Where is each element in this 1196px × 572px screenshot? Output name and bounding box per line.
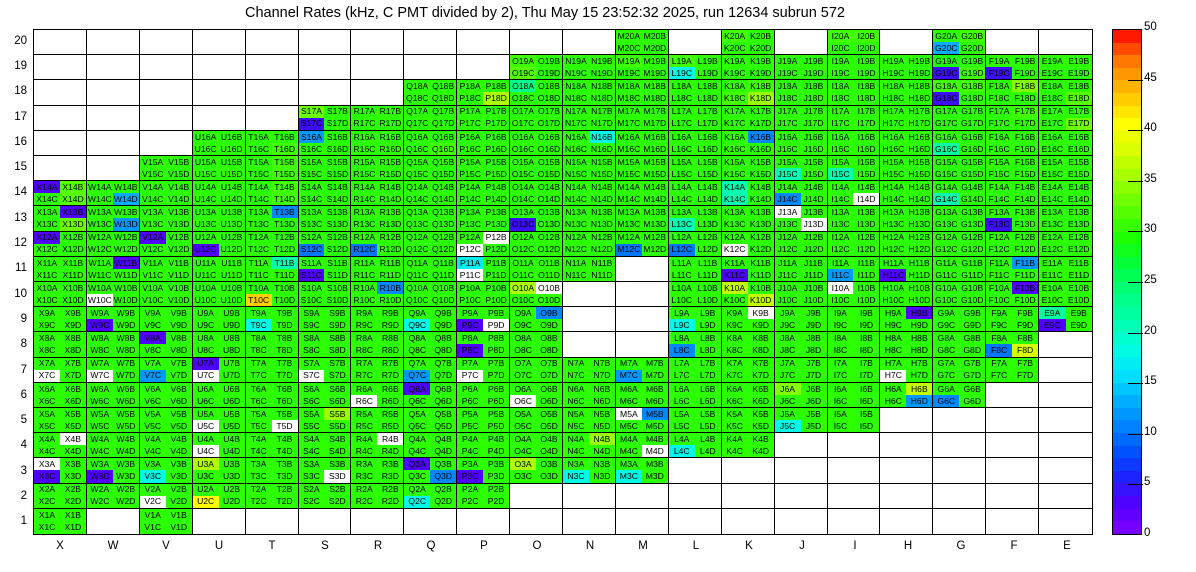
channel-V9C: V9C	[140, 319, 166, 331]
channel-S11C: S11C	[299, 269, 325, 281]
colorbar-tick-20: 20	[1144, 326, 1157, 338]
channel-F20C	[986, 42, 1012, 54]
channel-G14B: G14B	[959, 181, 985, 193]
channel-U3C: U3C	[193, 470, 219, 482]
channel-V4B: V4B	[166, 433, 192, 445]
channel-Q20B	[430, 30, 456, 42]
channel-R9B: R9B	[377, 307, 403, 319]
channel-J15C: J15C	[775, 168, 801, 180]
channel-O19C: O19C	[510, 67, 536, 79]
channel-X9B: X9B	[60, 307, 86, 319]
tower-Q3: Q3AQ3BQ3CQ3D	[404, 458, 457, 483]
channel-F4D	[1012, 445, 1038, 457]
channel-M2A	[616, 484, 642, 496]
channel-Q2B: Q2B	[430, 484, 456, 496]
channel-R15C: R15C	[351, 168, 377, 180]
channel-E5B	[1066, 408, 1092, 420]
channel-O14D: O14D	[536, 193, 562, 205]
channel-W11B: W11B	[113, 257, 139, 269]
tower-O13: O13AO13BO13CO13D	[510, 206, 563, 231]
channel-Q12B: Q12B	[430, 232, 456, 244]
channel-U6C: U6C	[193, 395, 219, 407]
channel-Q13D: Q13D	[430, 218, 456, 230]
channel-M1D	[642, 521, 668, 534]
channel-N7D: N7D	[589, 370, 615, 382]
channel-K8B: K8B	[748, 332, 774, 344]
channel-L13C: L13C	[669, 218, 695, 230]
channel-N9D	[589, 319, 615, 331]
channel-P12A: P12A	[457, 232, 483, 244]
channel-U1D	[219, 521, 245, 534]
tower-X16	[34, 131, 87, 156]
channel-X19D	[60, 67, 86, 79]
channel-O15B: O15B	[536, 156, 562, 168]
channel-J19D: J19D	[801, 67, 827, 79]
channel-L19A: L19A	[669, 55, 695, 67]
channel-T15C: T15C	[246, 168, 272, 180]
channel-V2A: V2A	[140, 484, 166, 496]
channel-R6B: R6B	[377, 383, 403, 395]
channel-P7B: P7B	[483, 358, 509, 370]
channel-S10A: S10A	[299, 282, 325, 294]
channel-R18C	[351, 92, 377, 104]
channel-M12B: M12B	[642, 232, 668, 244]
x-tick-N: N	[564, 540, 617, 552]
channel-T9C: T9C	[246, 319, 272, 331]
channel-T14C: T14C	[246, 193, 272, 205]
channel-H17D: H17D	[906, 118, 932, 130]
channel-J2A	[775, 484, 801, 496]
tower-E5	[1039, 408, 1092, 433]
channel-F18D: F18D	[1012, 92, 1038, 104]
channel-Q9D: Q9D	[430, 319, 456, 331]
channel-R15B: R15B	[377, 156, 403, 168]
channel-M7D: M7D	[642, 370, 668, 382]
channel-H6D: H6D	[906, 395, 932, 407]
channel-M14A: M14A	[616, 181, 642, 193]
channel-M13D: M13D	[642, 218, 668, 230]
channel-U20C	[193, 42, 219, 54]
channel-E10A: E10A	[1039, 282, 1065, 294]
tower-K8: K8AK8BK8CK8D	[722, 332, 775, 357]
channel-T5B: T5B	[272, 408, 298, 420]
channel-W2D: W2D	[113, 496, 139, 508]
channel-I19C: I19C	[828, 67, 854, 79]
channel-I18A: I18A	[828, 80, 854, 92]
channel-U2A: U2A	[193, 484, 219, 496]
channel-G4A	[933, 433, 959, 445]
tower-H4	[880, 433, 933, 458]
channel-I14B: I14B	[853, 181, 879, 193]
channel-U2C: U2C	[193, 496, 219, 508]
channel-X4C: X4C	[34, 445, 60, 457]
channel-H4D	[906, 445, 932, 457]
channel-O7B: O7B	[536, 358, 562, 370]
tower-O19: O19AO19BO19CO19D	[510, 55, 563, 80]
channel-N10D	[589, 294, 615, 306]
channel-M6A: M6A	[616, 383, 642, 395]
tower-Q13: Q13AQ13BQ13CQ13D	[404, 206, 457, 231]
tower-X5: X5AX5BX5CX5D	[34, 408, 87, 433]
tower-K10: K10AK10BK10CK10D	[722, 282, 775, 307]
channel-H16A: H16A	[880, 131, 906, 143]
tower-E1	[1039, 509, 1092, 534]
tower-S11: S11AS11BS11CS11D	[299, 257, 352, 282]
channel-L13B: L13B	[695, 206, 721, 218]
channel-N10A	[563, 282, 589, 294]
channel-E3D	[1066, 470, 1092, 482]
channel-J1A	[775, 509, 801, 522]
channel-E12D: E12D	[1066, 244, 1092, 256]
channel-X14D: X14D	[60, 193, 86, 205]
channel-M14D: M14D	[642, 193, 668, 205]
x-tick-E: E	[1041, 540, 1094, 552]
channel-V16A	[140, 131, 166, 143]
channel-O13C: O13C	[510, 218, 536, 230]
channel-O5C: O5C	[510, 420, 536, 432]
channel-Q9B: Q9B	[430, 307, 456, 319]
tower-K17: K17AK17BK17CK17D	[722, 106, 775, 131]
channel-P9A: P9A	[457, 307, 483, 319]
tower-N8	[563, 332, 616, 357]
channel-N7C: N7C	[563, 370, 589, 382]
channel-S10D: S10D	[324, 294, 350, 306]
channel-U14B: U14B	[219, 181, 245, 193]
tower-N16: N16AN16BN16CN16D	[563, 131, 616, 156]
channel-E5D	[1066, 420, 1092, 432]
channel-H1A	[880, 509, 906, 522]
channel-R3D: R3D	[377, 470, 403, 482]
tower-H3	[880, 458, 933, 483]
tower-E13: E13AE13BE13CE13D	[1039, 206, 1092, 231]
channel-W6D: W6D	[113, 395, 139, 407]
channel-K18A: K18A	[722, 80, 748, 92]
channel-G20B: G20B	[959, 30, 985, 42]
channel-O5D: O5D	[536, 420, 562, 432]
tower-V2: V2AV2BV2CV2D	[140, 484, 193, 509]
tower-K14: K14AK14BK14CK14D	[722, 181, 775, 206]
channel-F6D	[1012, 395, 1038, 407]
channel-E14B: E14B	[1066, 181, 1092, 193]
channel-T20D	[272, 42, 298, 54]
channel-E1D	[1066, 521, 1092, 534]
channel-N5D: N5D	[589, 420, 615, 432]
tower-U4: U4AU4BU4CU4D	[193, 433, 246, 458]
channel-J17B: J17B	[801, 106, 827, 118]
channel-F16C: F16C	[986, 143, 1012, 155]
channel-T6B: T6B	[272, 383, 298, 395]
channel-V6A: V6A	[140, 383, 166, 395]
channel-J17D: J17D	[801, 118, 827, 130]
colorbar-tick-30: 30	[1144, 224, 1157, 236]
channel-S20B	[324, 30, 350, 42]
channel-O17C: O17C	[510, 118, 536, 130]
channel-G1C	[933, 521, 959, 534]
channel-N17A: N17A	[563, 106, 589, 118]
channel-F15D: F15D	[1012, 168, 1038, 180]
channel-O16D: O16D	[536, 143, 562, 155]
channel-G5C	[933, 420, 959, 432]
channel-H9C: H9C	[880, 319, 906, 331]
channel-Q7C: Q7C	[404, 370, 430, 382]
tower-L8: L8AL8BL8CL8D	[669, 332, 722, 357]
channel-I15B: I15B	[853, 156, 879, 168]
channel-X4B: X4B	[60, 433, 86, 445]
channel-S17D: S17D	[324, 118, 350, 130]
channel-T9B: T9B	[272, 307, 298, 319]
channel-T20B	[272, 30, 298, 42]
channel-L10A: L10A	[669, 282, 695, 294]
channel-S7A: S7A	[299, 358, 325, 370]
channel-K8D: K8D	[748, 344, 774, 356]
tower-V1: V1AV1BV1CV1D	[140, 509, 193, 534]
channel-W18D	[113, 92, 139, 104]
tower-G20: G20AG20BG20CG20D	[933, 30, 986, 55]
tower-H7: H7AH7BH7CH7D	[880, 358, 933, 383]
channel-V7C: V7C	[140, 370, 166, 382]
channel-R17C: R17C	[351, 118, 377, 130]
channel-N11A: N11A	[563, 257, 589, 269]
channel-K14B: K14B	[748, 181, 774, 193]
channel-Q6B: Q6B	[430, 383, 456, 395]
channel-G15A: G15A	[933, 156, 959, 168]
channel-O6A: O6A	[510, 383, 536, 395]
channel-R15D: R15D	[377, 168, 403, 180]
tower-K1	[722, 509, 775, 534]
channel-M8B	[642, 332, 668, 344]
tower-F5	[986, 408, 1039, 433]
tower-R14: R14AR14BR14CR14D	[351, 181, 404, 206]
tower-X2: X2AX2BX2CX2D	[34, 484, 87, 509]
channel-I17B: I17B	[853, 106, 879, 118]
channel-I6D: I6D	[853, 395, 879, 407]
tower-Q12: Q12AQ12BQ12CQ12D	[404, 232, 457, 257]
channel-W7C: W7C	[87, 370, 113, 382]
channel-P4B: P4B	[483, 433, 509, 445]
channel-L12C: L12C	[669, 244, 695, 256]
channel-K3C	[722, 470, 748, 482]
tower-W4: W4AW4BW4CW4D	[87, 433, 140, 458]
channel-Q1B	[430, 509, 456, 522]
channel-L15A: L15A	[669, 156, 695, 168]
channel-Q20C	[404, 42, 430, 54]
channel-Q11A: Q11A	[404, 257, 430, 269]
channel-N19B: N19B	[589, 55, 615, 67]
channel-T7B: T7B	[272, 358, 298, 370]
channel-M17D: M17D	[642, 118, 668, 130]
channel-P20C	[457, 42, 483, 54]
channel-V15A: V15A	[140, 156, 166, 168]
channel-W10B: W10B	[113, 282, 139, 294]
channel-N8D	[589, 344, 615, 356]
channel-F13A: F13A	[986, 206, 1012, 218]
channel-T1D	[272, 521, 298, 534]
channel-L4C: L4C	[669, 445, 695, 457]
tower-S9: S9AS9BS9CS9D	[299, 307, 352, 332]
channel-I13B: I13B	[853, 206, 879, 218]
tower-M16: M16AM16BM16CM16D	[616, 131, 669, 156]
tower-E10: E10AE10BE10CE10D	[1039, 282, 1092, 307]
channel-F5B	[1012, 408, 1038, 420]
channel-P13A: P13A	[457, 206, 483, 218]
channel-Q5D: Q5D	[430, 420, 456, 432]
tower-Q10: Q10AQ10BQ10CQ10D	[404, 282, 457, 307]
channel-R9C: R9C	[351, 319, 377, 331]
channel-T2C: T2C	[246, 496, 272, 508]
channel-T12B: T12B	[272, 232, 298, 244]
tower-E18: E18AE18BE18CE18D	[1039, 80, 1092, 105]
tower-V20	[140, 30, 193, 55]
tower-O1	[510, 509, 563, 534]
channel-O7D: O7D	[536, 370, 562, 382]
channel-I6A: I6A	[828, 383, 854, 395]
channel-F9C: F9C	[986, 319, 1012, 331]
channel-V13D: V13D	[166, 218, 192, 230]
tower-P14: P14AP14BP14CP14D	[457, 181, 510, 206]
channel-F17A: F17A	[986, 106, 1012, 118]
channel-E1B	[1066, 509, 1092, 522]
channel-T7A: T7A	[246, 358, 272, 370]
channel-S9C: S9C	[299, 319, 325, 331]
tower-J10: J10AJ10BJ10CJ10D	[775, 282, 828, 307]
channel-R8B: R8B	[377, 332, 403, 344]
channel-G2D	[959, 496, 985, 508]
channel-U16B: U16B	[219, 131, 245, 143]
channel-I12B: I12B	[853, 232, 879, 244]
channel-W4C: W4C	[87, 445, 113, 457]
tower-L6: L6AL6BL6CL6D	[669, 383, 722, 408]
channel-M10C	[616, 294, 642, 306]
channel-V2D: V2D	[166, 496, 192, 508]
channel-M1B	[642, 509, 668, 522]
channel-J15A: J15A	[775, 156, 801, 168]
channel-O20A	[510, 30, 536, 42]
channel-H4A	[880, 433, 906, 445]
channel-P7A: P7A	[457, 358, 483, 370]
channel-N11C: N11C	[563, 269, 589, 281]
channel-J18B: J18B	[801, 80, 827, 92]
channel-F12A: F12A	[986, 232, 1012, 244]
channel-I11C: I11C	[828, 269, 854, 281]
tower-K18: K18AK18BK18CK18D	[722, 80, 775, 105]
tower-T19	[246, 55, 299, 80]
channel-Q2A: Q2A	[404, 484, 430, 496]
tower-Q14: Q14AQ14BQ14CQ14D	[404, 181, 457, 206]
channel-E9C: E9C	[1039, 319, 1065, 331]
channel-R10D: R10D	[377, 294, 403, 306]
tower-G16: G16AG16BG16CG16D	[933, 131, 986, 156]
channel-E16B: E16B	[1066, 131, 1092, 143]
channel-W3B: W3B	[113, 458, 139, 470]
channel-N4C: N4C	[563, 445, 589, 457]
channel-M11D	[642, 269, 668, 281]
channel-V3D: V3D	[166, 470, 192, 482]
channel-J13D: J13D	[801, 218, 827, 230]
channel-I7B: I7B	[853, 358, 879, 370]
channel-I2B	[853, 484, 879, 496]
channel-M9D	[642, 319, 668, 331]
channel-M3B: M3B	[642, 458, 668, 470]
channel-U10B: U10B	[219, 282, 245, 294]
channel-W20D	[113, 42, 139, 54]
channel-S18C	[299, 92, 325, 104]
channel-I5D: I5D	[853, 420, 879, 432]
channel-E8B	[1066, 332, 1092, 344]
channel-N19D: N19D	[589, 67, 615, 79]
channel-J5D: J5D	[801, 420, 827, 432]
channel-M16D: M16D	[642, 143, 668, 155]
channel-W6B: W6B	[113, 383, 139, 395]
channel-G1D	[959, 521, 985, 534]
channel-T6D: T6D	[272, 395, 298, 407]
tower-T9: T9AT9BT9CT9D	[246, 307, 299, 332]
channel-F14B: F14B	[1012, 181, 1038, 193]
channel-S3B: S3B	[324, 458, 350, 470]
channel-N3D: N3D	[589, 470, 615, 482]
tower-U11: U11AU11BU11CU11D	[193, 257, 246, 282]
channel-F2C	[986, 496, 1012, 508]
channel-U11B: U11B	[219, 257, 245, 269]
y-tick-4: 4	[0, 439, 27, 451]
tower-F1	[986, 509, 1039, 534]
channel-V9D: V9D	[166, 319, 192, 331]
channel-X13A: X13A	[34, 206, 60, 218]
channel-I6C: I6C	[828, 395, 854, 407]
channel-E2D	[1066, 496, 1092, 508]
channel-P14A: P14A	[457, 181, 483, 193]
channel-W12B: W12B	[113, 232, 139, 244]
y-tick-14: 14	[0, 186, 27, 198]
channel-R16C: R16C	[351, 143, 377, 155]
channel-N4B: N4B	[589, 433, 615, 445]
channel-G10B: G10B	[959, 282, 985, 294]
channel-U10D: U10D	[219, 294, 245, 306]
channel-M18A: M18A	[616, 80, 642, 92]
tower-F20	[986, 30, 1039, 55]
x-tick-J: J	[776, 540, 829, 552]
tower-R11: R11AR11BR11CR11D	[351, 257, 404, 282]
channel-W9C: W9C	[87, 319, 113, 331]
channel-I9A: I9A	[828, 307, 854, 319]
tower-I19: I19AI19BI19CI19D	[828, 55, 881, 80]
channel-X13B: X13B	[60, 206, 86, 218]
channel-Q19A	[404, 55, 430, 67]
channel-U17B	[219, 106, 245, 118]
channel-F12C: F12C	[986, 244, 1012, 256]
tower-J11: J11AJ11BJ11CJ11D	[775, 257, 828, 282]
channel-V13A: V13A	[140, 206, 166, 218]
channel-T16D: T16D	[272, 143, 298, 155]
channel-Q5A: Q5A	[404, 408, 430, 420]
channel-H15C: H15C	[880, 168, 906, 180]
channel-S17C: S17C	[299, 118, 325, 130]
channel-N8B	[589, 332, 615, 344]
channel-H20C	[880, 42, 906, 54]
channel-S14A: S14A	[299, 181, 325, 193]
channel-H17B: H17B	[906, 106, 932, 118]
channel-M3C: M3C	[616, 470, 642, 482]
channel-M1C	[616, 521, 642, 534]
channel-W2B: W2B	[113, 484, 139, 496]
channel-T2B: T2B	[272, 484, 298, 496]
channel-E16A: E16A	[1039, 131, 1065, 143]
tower-O2	[510, 484, 563, 509]
channel-M11B	[642, 257, 668, 269]
channel-W1D	[113, 521, 139, 534]
channel-X15A	[34, 156, 60, 168]
channel-S14C: S14C	[299, 193, 325, 205]
tower-U16: U16AU16BU16CU16D	[193, 131, 246, 156]
